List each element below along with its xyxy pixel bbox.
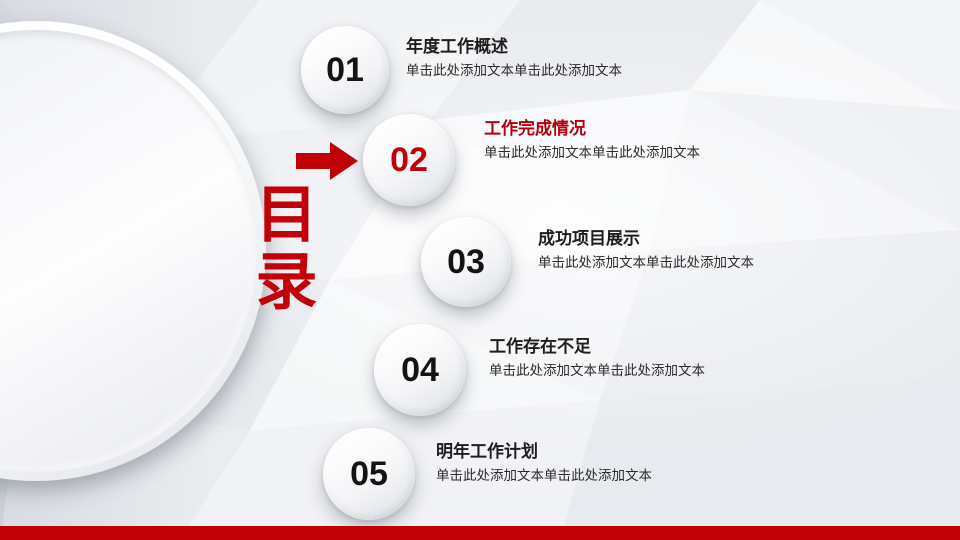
contents-disc-ring bbox=[0, 21, 266, 481]
footer-accent-bar bbox=[0, 526, 960, 540]
agenda-subtitle-03: 单击此处添加文本单击此处添加文本 bbox=[538, 253, 754, 273]
page-title: 目 录 bbox=[232, 182, 342, 316]
agenda-text-04[interactable]: 工作存在不足单击此处添加文本单击此处添加文本 bbox=[489, 336, 705, 381]
right-arrow-icon bbox=[296, 142, 358, 180]
page-title-line-2: 录 bbox=[232, 249, 342, 316]
agenda-title-02: 工作完成情况 bbox=[484, 118, 700, 141]
contents-disc bbox=[0, 21, 266, 481]
agenda-bubble-05[interactable]: 05 bbox=[323, 428, 415, 520]
page-title-line-1: 目 bbox=[232, 182, 342, 249]
agenda-subtitle-02: 单击此处添加文本单击此处添加文本 bbox=[484, 143, 700, 163]
agenda-subtitle-05: 单击此处添加文本单击此处添加文本 bbox=[436, 466, 652, 486]
agenda-bubble-04[interactable]: 04 bbox=[374, 324, 466, 416]
agenda-subtitle-01: 单击此处添加文本单击此处添加文本 bbox=[406, 61, 622, 81]
presentation-slide: 目 录 01年度工作概述单击此处添加文本单击此处添加文本02工作完成情况单击此处… bbox=[0, 0, 960, 540]
agenda-text-02[interactable]: 工作完成情况单击此处添加文本单击此处添加文本 bbox=[484, 118, 700, 163]
agenda-bubble-02[interactable]: 02 bbox=[363, 114, 455, 206]
agenda-text-01[interactable]: 年度工作概述单击此处添加文本单击此处添加文本 bbox=[406, 36, 622, 81]
agenda-text-05[interactable]: 明年工作计划单击此处添加文本单击此处添加文本 bbox=[436, 441, 652, 486]
agenda-subtitle-04: 单击此处添加文本单击此处添加文本 bbox=[489, 361, 705, 381]
agenda-title-05: 明年工作计划 bbox=[436, 441, 652, 464]
agenda-title-04: 工作存在不足 bbox=[489, 336, 705, 359]
agenda-bubble-01[interactable]: 01 bbox=[301, 26, 389, 114]
agenda-title-03: 成功项目展示 bbox=[538, 228, 754, 251]
agenda-bubble-03[interactable]: 03 bbox=[421, 217, 511, 307]
agenda-text-03[interactable]: 成功项目展示单击此处添加文本单击此处添加文本 bbox=[538, 228, 754, 273]
agenda-title-01: 年度工作概述 bbox=[406, 36, 622, 59]
